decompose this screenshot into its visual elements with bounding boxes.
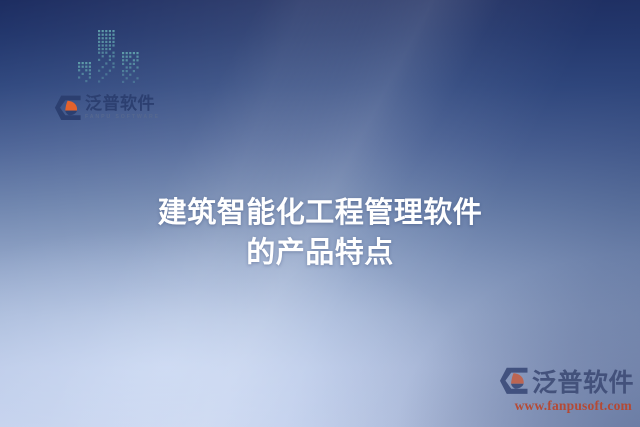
brand-name-cn: 泛普软件 [85,96,160,113]
brand-name-en: FANPU SOFTWARE [85,115,160,120]
presentation-slide: 泛普软件 FANPU SOFTWARE 建筑智能化工程管理软件 的产品特点 泛普… [0,0,640,427]
watermark-brand-name: 泛普软件 [532,363,634,399]
pixel-city-skyline-icon [78,26,144,90]
slide-title: 建筑智能化工程管理软件 的产品特点 [0,192,640,272]
brand-wordmark: 泛普软件 FANPU SOFTWARE [85,96,160,120]
watermark-url: www.fanpusoft.com [488,398,634,414]
brand-logo: 泛普软件 FANPU SOFTWARE [54,92,166,124]
slide-title-line-2: 的产品特点 [0,232,640,272]
fanpu-hexagon-swoosh-logo-icon [54,95,82,121]
slide-title-line-1: 建筑智能化工程管理软件 [0,192,640,232]
watermark-logo: 泛普软件 [488,363,634,399]
fanpu-hexagon-swoosh-logo-icon [499,367,529,395]
watermark: 泛普软件 www.fanpusoft.com [488,363,634,421]
